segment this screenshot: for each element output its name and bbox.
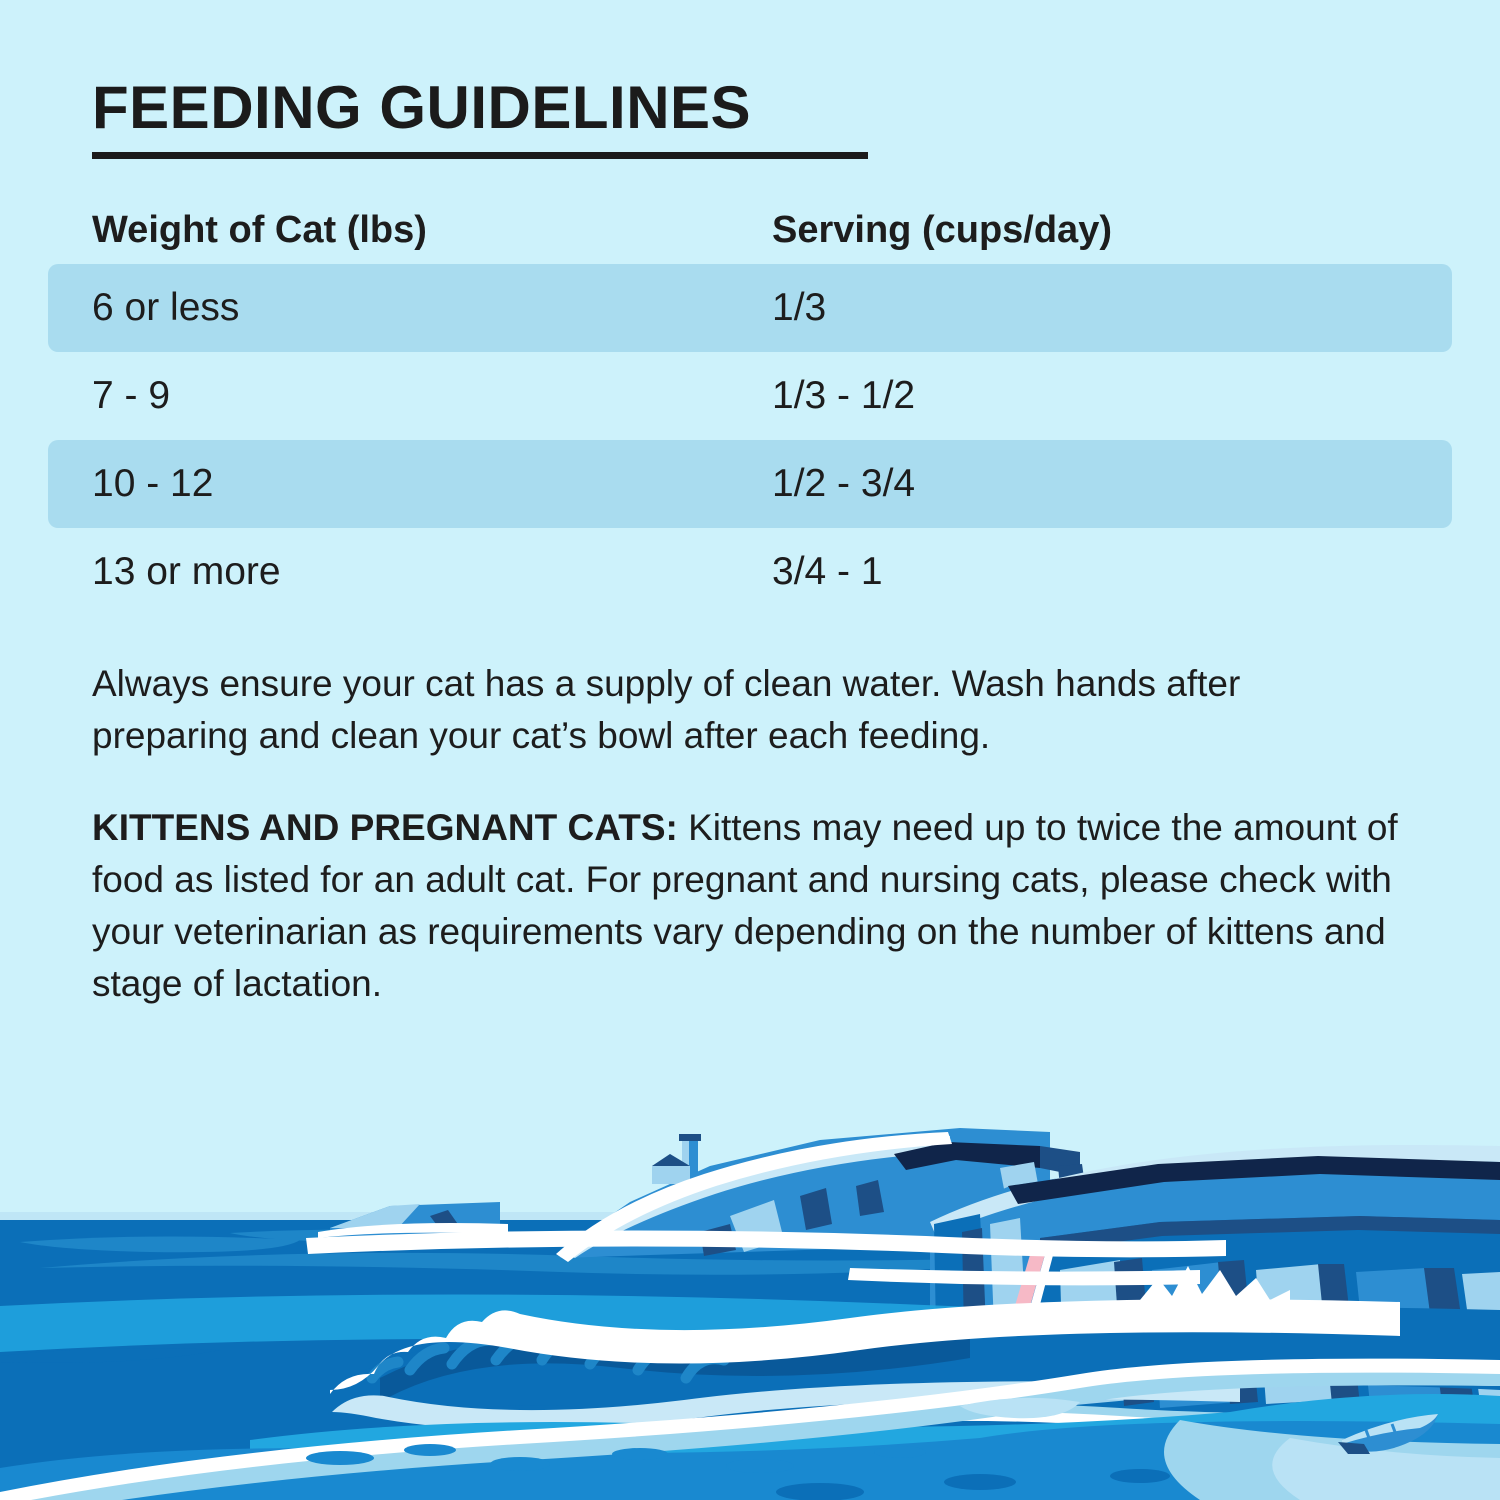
column-header-serving: Serving (cups/day) xyxy=(772,196,1112,264)
row-stripe-background xyxy=(48,264,1452,352)
table-row: 7 - 9 1/3 - 1/2 xyxy=(0,352,1500,440)
table-row: 10 - 12 1/2 - 3/4 xyxy=(0,440,1500,528)
table-row: 6 or less 1/3 xyxy=(0,264,1500,352)
title-underline-divider xyxy=(92,152,868,159)
cell-weight: 6 or less xyxy=(92,264,239,352)
cell-weight: 13 or more xyxy=(92,528,281,616)
cell-weight: 7 - 9 xyxy=(92,352,170,440)
table-row: 13 or more 3/4 - 1 xyxy=(0,528,1500,616)
text-content-area: FEEDING GUIDELINES Weight of Cat (lbs) S… xyxy=(0,0,1500,1220)
column-header-weight: Weight of Cat (lbs) xyxy=(92,196,427,264)
kittens-pregnant-note: KITTENS AND PREGNANT CATS: Kittens may n… xyxy=(92,802,1427,1010)
cell-weight: 10 - 12 xyxy=(92,440,213,528)
cell-serving: 1/3 xyxy=(772,264,826,352)
kittens-note-label: KITTENS AND PREGNANT CATS: xyxy=(92,807,678,848)
feeding-table: Weight of Cat (lbs) Serving (cups/day) 6… xyxy=(0,196,1500,616)
table-header-row: Weight of Cat (lbs) Serving (cups/day) xyxy=(0,196,1500,264)
cell-serving: 1/3 - 1/2 xyxy=(772,352,915,440)
page-title: FEEDING GUIDELINES xyxy=(92,78,751,138)
row-stripe-background xyxy=(48,440,1452,528)
feeding-guidelines-panel: FEEDING GUIDELINES Weight of Cat (lbs) S… xyxy=(0,0,1500,1500)
coastal-cliffs-illustration xyxy=(0,1120,1500,1500)
clean-water-note: Always ensure your cat has a supply of c… xyxy=(92,658,1382,762)
cell-serving: 1/2 - 3/4 xyxy=(772,440,915,528)
cell-serving: 3/4 - 1 xyxy=(772,528,883,616)
